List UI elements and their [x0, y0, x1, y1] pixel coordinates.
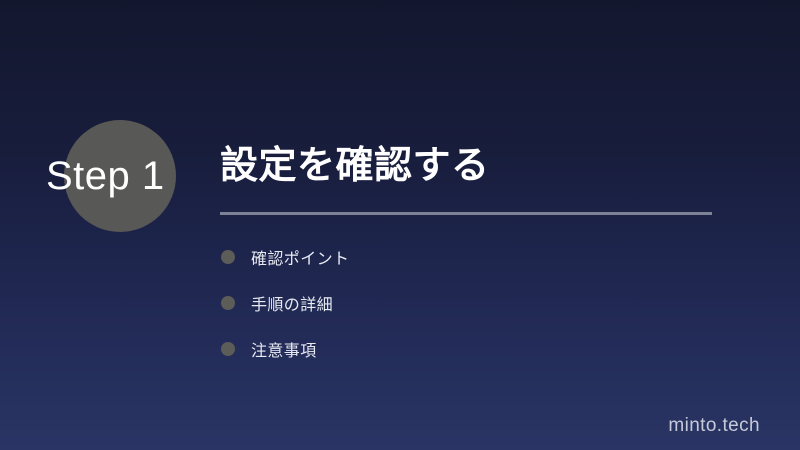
- list-item-label: 注意事項: [251, 337, 317, 361]
- bullet-dot-icon: [221, 296, 235, 310]
- footer-brand-watermark: minto.tech: [668, 415, 760, 437]
- bullet-dot-icon: [221, 250, 235, 264]
- presentation-slide: Step 1 設定を確認する 確認ポイント 手順の詳細 注意事項 minto.t…: [0, 0, 800, 450]
- bullet-dot-icon: [221, 342, 235, 356]
- list-item: 確認ポイント: [220, 234, 712, 280]
- slide-content: 設定を確認する 確認ポイント 手順の詳細 注意事項: [220, 142, 712, 388]
- bullet-list: 確認ポイント 手順の詳細 注意事項: [220, 234, 712, 372]
- step-number-label: Step 1: [46, 152, 246, 200]
- list-item-label: 手順の詳細: [251, 291, 333, 315]
- list-item: 手順の詳細: [220, 280, 712, 326]
- slide-title: 設定を確認する: [220, 142, 712, 190]
- title-divider: [220, 212, 712, 215]
- list-item-label: 確認ポイント: [251, 245, 349, 269]
- list-item: 注意事項: [220, 326, 712, 372]
